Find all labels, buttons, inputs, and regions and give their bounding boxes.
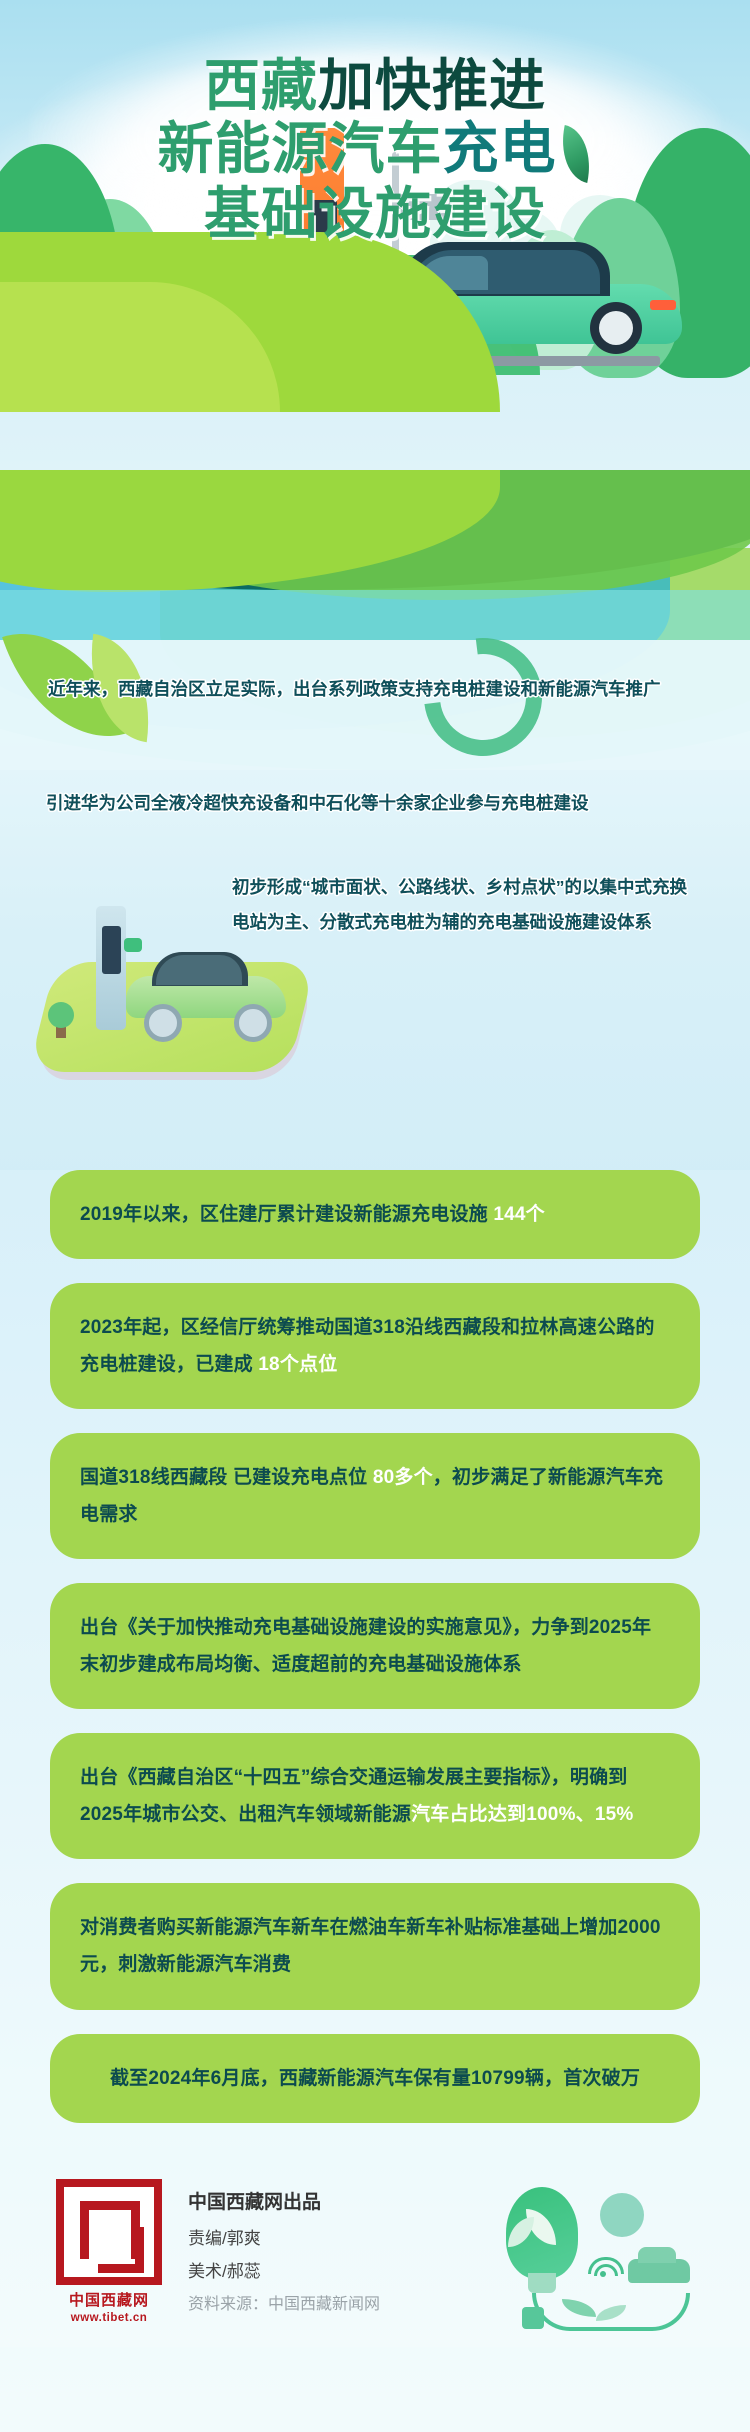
editor-credit: 责编/郭爽 [188, 2224, 380, 2249]
bulb-base [528, 2273, 556, 2293]
produced-by: 中国西藏网出品 [188, 2187, 380, 2214]
card-text-run: 出台《关于加快推动充电基础设施建设的实施意见》，力争到2025年末初步建成布局均… [80, 1617, 651, 1675]
card-total: 截至2024年6月底，西藏新能源汽车保有量10799辆，首次破万 [50, 2034, 700, 2123]
mini-car-glass [156, 955, 242, 985]
sun-icon [600, 2193, 644, 2237]
card-text-run: 对消费者购买新能源汽车新车在燃油车新车补贴标准基础上增加2000元，刺激新能源汽… [80, 1917, 661, 1975]
card-opinion: 出台《关于加快推动充电基础设施建设的实施意见》，力争到2025年末初步建成布局均… [50, 1583, 700, 1709]
intro-paragraph-2: 引进华为公司全液冷超快充设备和中石化等十余家企业参与充电桩建设 [46, 786, 706, 822]
card-text-run: 国道318线西藏段 已建设充电点位 [80, 1467, 373, 1488]
footer-section: 中国西藏网 www.tibet.cn 中国西藏网出品 责编/郭爽 美术/郝蕊 资… [0, 2147, 750, 2347]
credits-block: 中国西藏网出品 责编/郭爽 美术/郝蕊 资料来源：中国西藏新闻网 [188, 2179, 380, 2314]
title-line1-part1: 西藏 [204, 54, 318, 119]
highlight-figure: 144个 [493, 1204, 545, 1225]
card-text: 2023年起，区经信厅统筹推动国道318沿线西藏段和拉林高速公路的充电桩建设，已… [80, 1309, 670, 1383]
mini-post-screen [102, 926, 121, 974]
source-credit: 资料来源：中国西藏新闻网 [188, 2290, 380, 2314]
card-text: 出台《关于加快推动充电基础设施建设的实施意见》，力争到2025年末初步建成布局均… [80, 1609, 670, 1683]
leaf-icon [553, 125, 597, 183]
highlight-figure: 80多个 [373, 1467, 433, 1488]
highlight-figure: 汽车占比达到100%、15% [411, 1804, 633, 1825]
mini-car-wheel-front [144, 1004, 182, 1042]
eco-car-icon [628, 2247, 690, 2287]
car-wheel-rear [590, 302, 642, 354]
card-text: 对消费者购买新能源汽车新车在燃油车新车补贴标准基础上增加2000元，刺激新能源汽… [80, 1909, 670, 1983]
plug-icon [522, 2307, 544, 2329]
eco-bulb-illustration [492, 2181, 692, 2329]
mini-tree-crown [48, 1002, 74, 1028]
mini-charging-scene [30, 900, 320, 1080]
art-credit: 美术/郝蕊 [188, 2257, 380, 2282]
card-145plan: 出台《西藏自治区“十四五”综合交通运输发展主要指标》，明确到2025年城市公交、… [50, 1733, 700, 1859]
card-text: 截至2024年6月底，西藏新能源汽车保有量10799辆，首次破万 [80, 2060, 670, 2097]
wifi-icon [588, 2257, 622, 2279]
title-line2-part1: 新能源汽车 [158, 117, 443, 182]
title-line1-part2: 加快推进 [318, 54, 546, 119]
card-text-run: 2023年起，区经信厅统筹推动国道318沿线西藏段和拉林高速公路的充电桩建设，已… [80, 1317, 655, 1375]
hero-section: 西藏加快推进 新能源汽车充电 基础设施建设 [0, 0, 750, 470]
page-title: 西藏加快推进 新能源汽车充电 基础设施建设 [0, 58, 750, 243]
intro-section: 近年来，西藏自治区立足实际，出台系列政策支持充电桩建设和新能源汽车推广 引进华为… [0, 470, 750, 1170]
fact-card-list: 2019年以来，区住建厅累计建设新能源充电设施 144个2023年起，区经信厅统… [0, 1170, 750, 2123]
card-g318: 国道318线西藏段 已建设充电点位 80多个，初步满足了新能源汽车充电需求 [50, 1433, 700, 1559]
logo-url: www.tibet.cn [56, 2312, 162, 2324]
card-text: 出台《西藏自治区“十四五”综合交通运输发展主要指标》，明确到2025年城市公交、… [80, 1759, 670, 1833]
card-subsidy: 对消费者购买新能源汽车新车在燃油车新车补贴标准基础上增加2000元，刺激新能源汽… [50, 1883, 700, 2009]
mini-car-wheel-rear [234, 1004, 272, 1042]
card-2019: 2019年以来，区住建厅累计建设新能源充电设施 144个 [50, 1170, 700, 1259]
card-text-run: 截至2024年6月底，西藏新能源汽车保有量10799辆，首次破万 [110, 2068, 640, 2089]
logo-name: 中国西藏网 [56, 2289, 162, 2310]
intro-paragraph-1: 近年来，西藏自治区立足实际，出台系列政策支持充电桩建设和新能源汽车推广 [48, 672, 703, 708]
title-line2-part2: 充电 [443, 117, 557, 182]
tibet-net-logo: 中国西藏网 www.tibet.cn [56, 2179, 162, 2324]
card-text: 2019年以来，区住建厅累计建设新能源充电设施 144个 [80, 1196, 670, 1233]
card-text-run: 2019年以来，区住建厅累计建设新能源充电设施 [80, 1204, 493, 1225]
mini-car-illustration [126, 946, 286, 1032]
card-text: 国道318线西藏段 已建设充电点位 80多个，初步满足了新能源汽车充电需求 [80, 1459, 670, 1533]
title-line3: 基础设施建设 [204, 182, 546, 247]
logo-mark-icon [56, 2179, 162, 2285]
car-taillight [650, 300, 676, 310]
infographic-page: 西藏加快推进 新能源汽车充电 基础设施建设 近年来，西藏自治区立足实际，出台系列… [0, 0, 750, 2432]
card-2023: 2023年起，区经信厅统筹推动国道318沿线西藏段和拉林高速公路的充电桩建设，已… [50, 1283, 700, 1409]
highlight-figure: 18个点位 [258, 1354, 337, 1375]
